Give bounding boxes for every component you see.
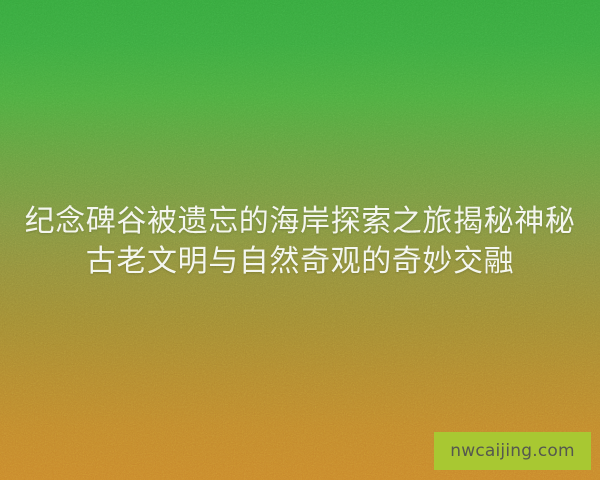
watermark-badge: nwcaijing.com bbox=[434, 432, 591, 470]
title-line-2: 古老文明与自然奇观的奇妙交融 bbox=[18, 242, 582, 282]
watermark-label: nwcaijing.com bbox=[450, 443, 575, 460]
banner-image: 纪念碑谷被遗忘的海岸探索之旅揭秘神秘 古老文明与自然奇观的奇妙交融 nwcaij… bbox=[0, 0, 600, 480]
title-line-1: 纪念碑谷被遗忘的海岸探索之旅揭秘神秘 bbox=[18, 202, 582, 242]
banner-title: 纪念碑谷被遗忘的海岸探索之旅揭秘神秘 古老文明与自然奇观的奇妙交融 bbox=[0, 202, 600, 282]
